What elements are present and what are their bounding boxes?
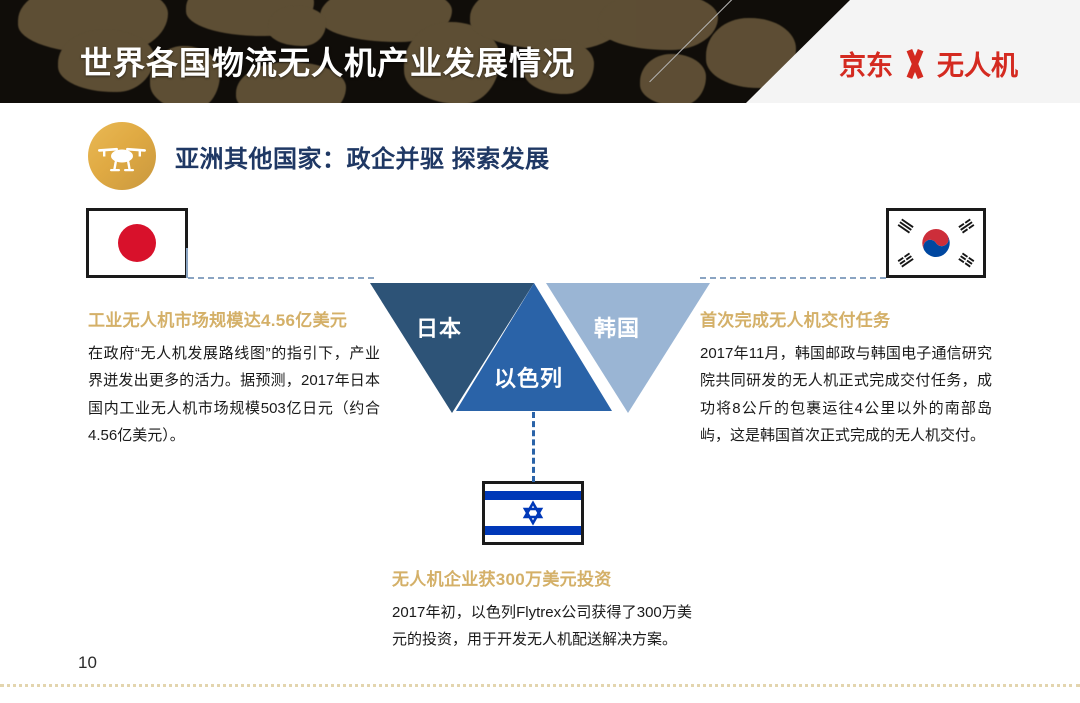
page-title: 世界各国物流无人机产业发展情况 <box>80 38 575 84</box>
footer-dotted-rule <box>0 684 1080 687</box>
brand-logo: 京东 无人机 <box>839 44 1018 83</box>
logo-text-left: 京东 <box>839 44 893 83</box>
connector-israel-to-triangle <box>532 412 535 482</box>
connector-corner-left <box>186 248 188 278</box>
block-heading-israel: 无人机企业获300万美元投资 <box>392 565 692 590</box>
logo-text-right: 无人机 <box>937 44 1018 83</box>
text-block-israel: 无人机企业获300万美元投资 2017年初，以色列Flytrex公司获得了300… <box>392 565 692 654</box>
triangle-label-israel: 以色列 <box>494 361 563 393</box>
korea-flag <box>886 208 986 278</box>
header-bar: 世界各国物流无人机产业发展情况 京东 无人机 <box>0 0 1080 103</box>
slide: 世界各国物流无人机产业发展情况 京东 无人机 亚洲其他国家：政企并驱 探索发展 <box>0 0 1080 703</box>
page-number: 10 <box>78 653 97 673</box>
triangle-israel[interactable]: 以色列 <box>456 283 612 411</box>
connector-korea-to-triangle <box>700 277 886 279</box>
block-heading-japan: 工业无人机市场规模达4.56亿美元 <box>88 306 380 331</box>
section-subtitle: 亚洲其他国家：政企并驱 探索发展 <box>88 122 550 190</box>
text-block-korea: 首次完成无人机交付任务 2017年11月，韩国邮政与韩国电子通信研究院共同研发的… <box>700 306 992 449</box>
x-logo-icon <box>898 49 932 79</box>
block-heading-korea: 首次完成无人机交付任务 <box>700 306 992 331</box>
text-block-japan: 工业无人机市场规模达4.56亿美元 在政府“无人机发展路线图”的指引下，产业界迸… <box>88 306 380 449</box>
block-body-korea: 2017年11月，韩国邮政与韩国电子通信研究院共同研发的无人机正式完成交付任务，… <box>700 340 992 449</box>
block-body-israel: 2017年初，以色列Flytrex公司获得了300万美元的投资，用于开发无人机配… <box>392 599 692 654</box>
israel-flag <box>482 481 584 545</box>
japan-flag <box>86 208 188 278</box>
connector-japan-to-triangle <box>188 277 374 279</box>
drone-icon <box>88 122 156 190</box>
block-body-japan: 在政府“无人机发展路线图”的指引下，产业界迸发出更多的活力。据预测，2017年日… <box>88 340 380 449</box>
subtitle-label: 亚洲其他国家：政企并驱 探索发展 <box>175 139 550 174</box>
